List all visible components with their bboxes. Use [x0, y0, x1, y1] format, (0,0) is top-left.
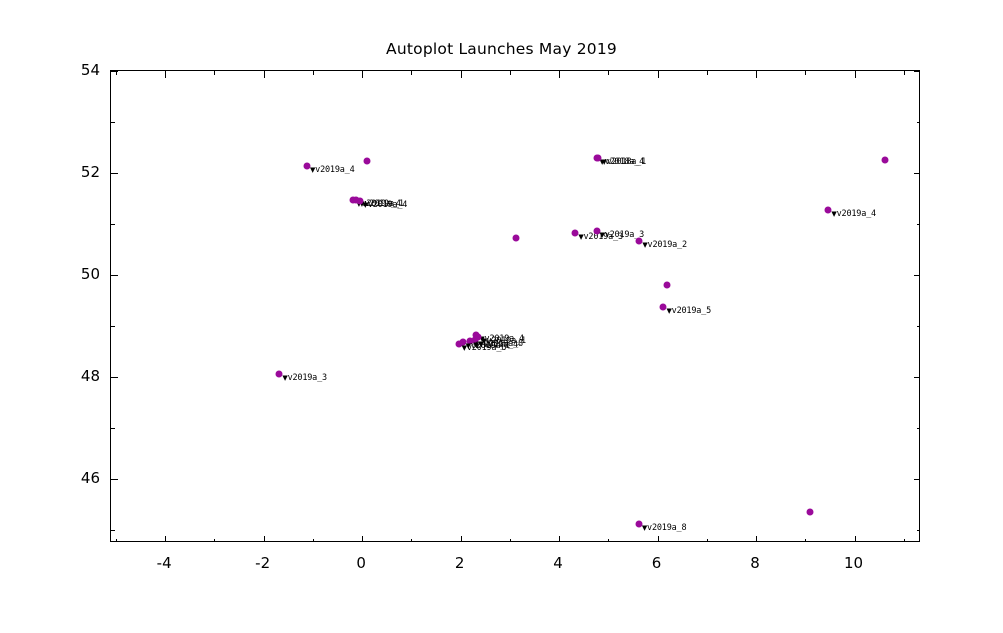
x-axis-tick-top — [165, 71, 166, 78]
x-axis-tick-top — [313, 71, 314, 75]
y-axis-tick-right — [917, 326, 920, 327]
x-axis-tick-top — [362, 71, 363, 78]
y-axis-tick-right — [917, 530, 920, 531]
x-axis-tick-top — [608, 71, 609, 75]
y-axis-tick-label: 48 — [62, 367, 100, 385]
scatter-point-label: ▼v2019a_2 — [642, 240, 687, 250]
x-axis-tick-top — [461, 71, 462, 78]
x-axis-tick — [658, 536, 659, 542]
x-axis-tick-label: 2 — [455, 554, 465, 572]
scatter-points-layer: ▼v2019a_4▼v2019a_4▼v2019a_1▼v2019a_4▼v20… — [111, 71, 919, 541]
x-axis-tick — [313, 539, 314, 542]
y-axis-tick — [111, 122, 115, 123]
x-axis-tick-top — [214, 71, 215, 75]
x-axis-tick-label: -2 — [255, 554, 270, 572]
scatter-point-label: ▼v2019a_6 — [462, 343, 507, 353]
x-axis-tick — [608, 539, 609, 542]
x-axis-tick — [510, 539, 511, 542]
scatter-point[interactable] — [807, 509, 814, 516]
y-axis-tick — [111, 71, 118, 72]
x-axis-tick-label: 0 — [356, 554, 366, 572]
scatter-point[interactable] — [363, 158, 370, 165]
x-axis-tick-top — [559, 71, 560, 78]
y-axis-tick-label: 54 — [62, 61, 100, 79]
y-axis-tick-right — [914, 275, 920, 276]
y-axis-tick-label: 50 — [62, 265, 100, 283]
y-axis-tick-right — [917, 428, 920, 429]
x-axis-tick — [559, 536, 560, 542]
y-axis-tick-right — [917, 122, 920, 123]
x-axis-tick-label: -4 — [157, 554, 172, 572]
x-axis-tick-top — [707, 71, 708, 75]
y-axis-tick — [111, 530, 115, 531]
y-axis-tick — [111, 326, 115, 327]
x-axis-tick-label: 8 — [750, 554, 760, 572]
y-axis-tick-right — [914, 173, 920, 174]
x-axis-tick — [461, 536, 462, 542]
scatter-point-label: ▼v2018a_1 — [601, 157, 646, 167]
x-axis-tick — [904, 539, 905, 542]
x-axis-tick-label: 10 — [844, 554, 863, 572]
scatter-point-label: ▼v2019a_4 — [363, 200, 408, 210]
x-axis-tick — [855, 536, 856, 542]
scatter-point-label: ▼v2019a_5 — [666, 306, 711, 316]
scatter-point[interactable] — [663, 281, 670, 288]
x-axis-tick — [165, 536, 166, 542]
y-axis-tick — [111, 377, 118, 378]
x-axis-tick-label: 6 — [652, 554, 662, 572]
scatter-point-label: ▼v2019a_3 — [282, 373, 327, 383]
y-axis-tick — [111, 173, 118, 174]
scatter-point[interactable] — [512, 234, 519, 241]
x-axis-tick-top — [855, 71, 856, 78]
y-axis-tick — [111, 275, 118, 276]
page-title: Autoplot Launches May 2019 — [0, 40, 1003, 58]
x-axis-tick-label: 4 — [553, 554, 563, 572]
y-axis-tick-right — [914, 479, 920, 480]
x-axis-tick-top — [658, 71, 659, 78]
x-axis-tick-top — [264, 71, 265, 78]
scatter-point[interactable] — [882, 156, 889, 163]
scatter-point-label: ▼v2019a_4 — [310, 165, 355, 175]
x-axis-tick — [362, 536, 363, 542]
x-axis-tick-top — [904, 71, 905, 75]
y-axis-tick-label: 46 — [62, 469, 100, 487]
x-axis-tick-top — [510, 71, 511, 75]
x-axis-tick — [264, 536, 265, 542]
map-plot-area[interactable]: ▼v2019a_4▼v2019a_4▼v2019a_1▼v2019a_4▼v20… — [110, 70, 920, 542]
scatter-point-label: ▼v2019a_8 — [642, 523, 687, 533]
x-axis-tick-top — [805, 71, 806, 75]
y-axis-tick-right — [914, 71, 920, 72]
x-axis-tick — [805, 539, 806, 542]
y-axis-tick-right — [917, 224, 920, 225]
x-axis-tick — [756, 536, 757, 542]
y-axis-tick — [111, 428, 115, 429]
y-axis-tick-label: 52 — [62, 163, 100, 181]
x-axis-tick-top — [756, 71, 757, 78]
x-axis-tick — [116, 539, 117, 542]
x-axis-tick — [214, 539, 215, 542]
y-axis-tick — [111, 224, 115, 225]
scatter-point-label: ▼v2019a_4 — [831, 209, 876, 219]
x-axis-tick — [707, 539, 708, 542]
y-axis-tick-right — [914, 377, 920, 378]
y-axis-tick — [111, 479, 118, 480]
x-axis-tick — [411, 539, 412, 542]
x-axis-tick-top — [411, 71, 412, 75]
figure-canvas: Autoplot Launches May 2019 — [0, 0, 1003, 633]
